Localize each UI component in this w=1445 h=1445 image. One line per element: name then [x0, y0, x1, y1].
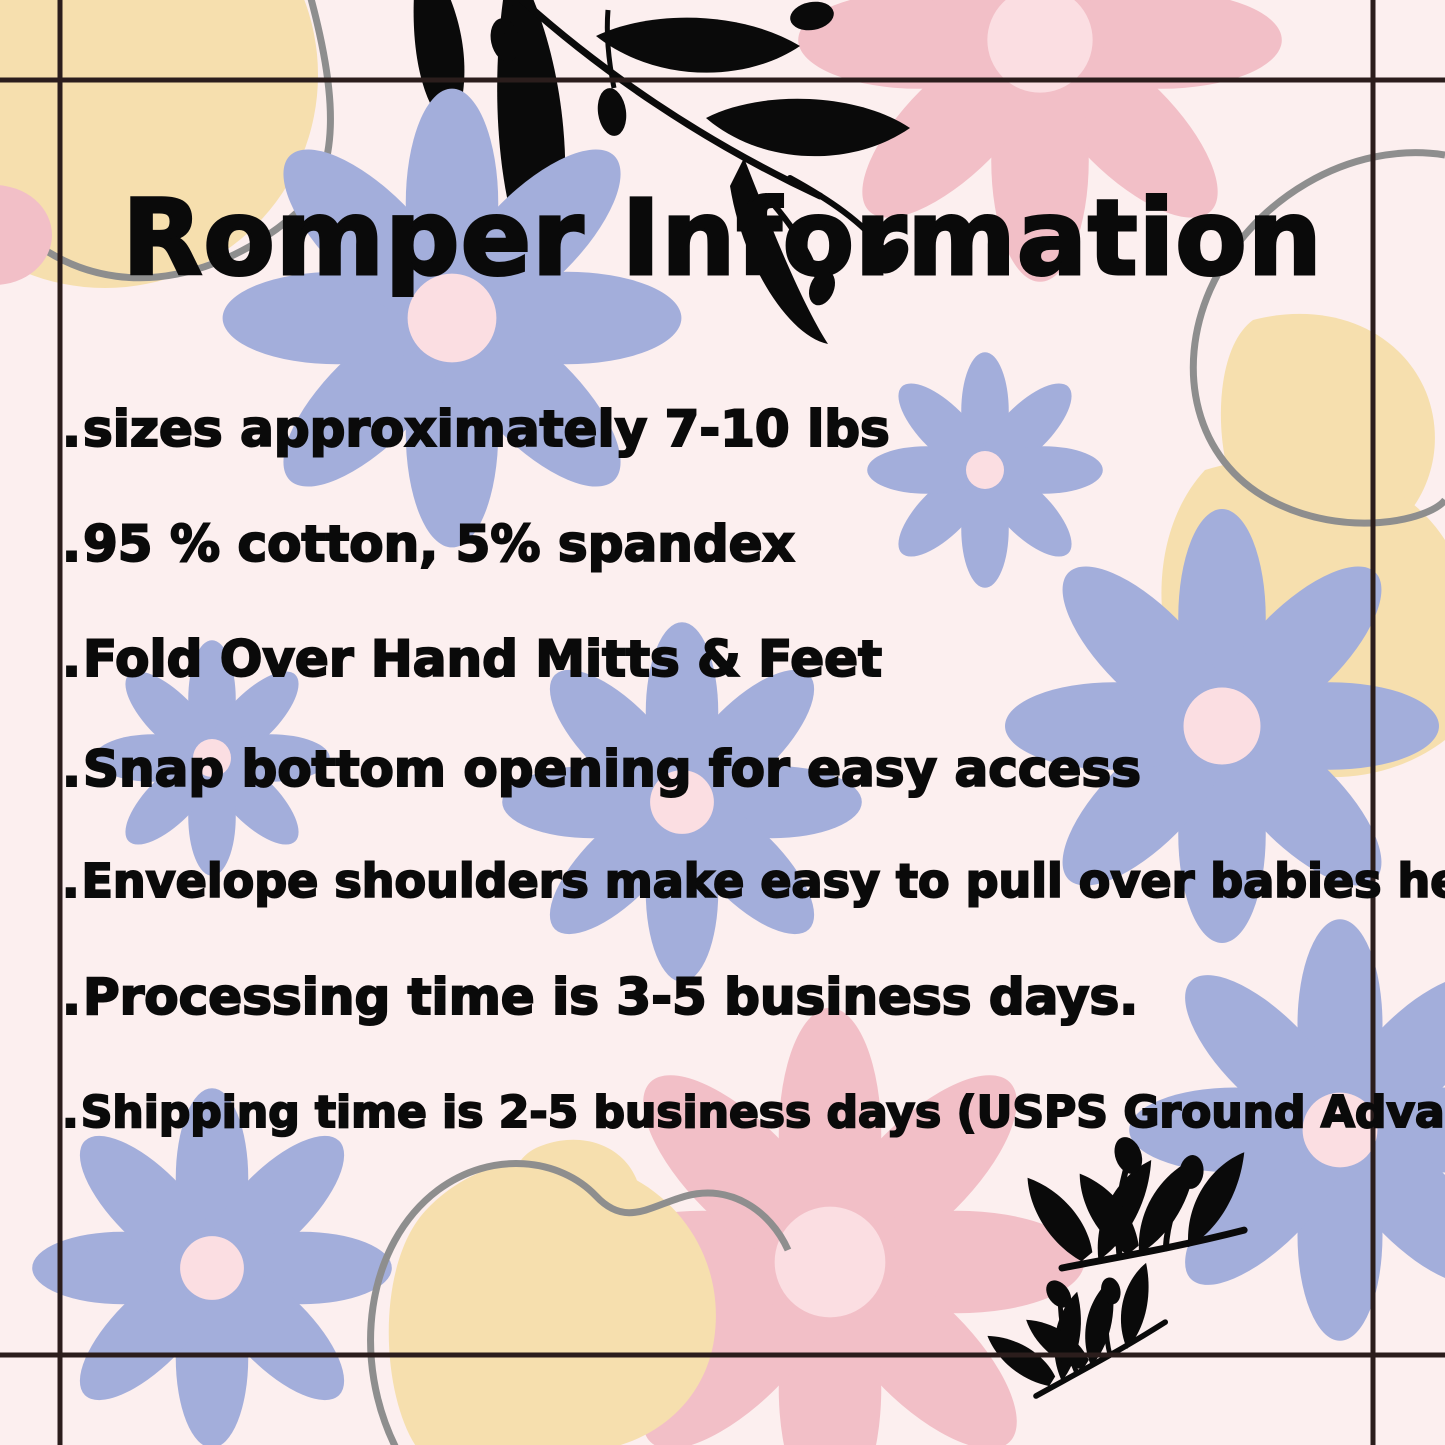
list-item-label: Envelope shoulders make easy to pull ove… [81, 854, 1445, 908]
list-item-label: Processing time is 3-5 business days. [83, 968, 1138, 1026]
list-item: .95 % cotton, 5% spandex [62, 513, 1392, 628]
romper-info-list: .sizes approximately 7-10 lbs .95 % cott… [62, 398, 1392, 1184]
bullet-marker: . [62, 513, 81, 575]
list-item: .Shipping time is 2-5 business days (USP… [62, 1084, 1392, 1184]
bullet-marker: . [62, 966, 81, 1028]
list-item-label: sizes approximately 7-10 lbs [83, 400, 890, 458]
bullet-marker: . [62, 738, 81, 800]
list-item-label: 95 % cotton, 5% spandex [83, 515, 795, 573]
bullet-marker: . [62, 398, 81, 460]
list-item: .Envelope shoulders make easy to pull ov… [62, 851, 1392, 966]
poster-canvas: Romper Information .sizes approximately … [0, 0, 1445, 1445]
list-item: .sizes approximately 7-10 lbs [62, 398, 1392, 513]
bullet-marker: . [62, 628, 81, 690]
bullet-marker: . [62, 851, 79, 911]
page-title: Romper Information [0, 186, 1445, 290]
list-item: .Snap bottom opening for easy access [62, 738, 1392, 851]
list-item-label: Shipping time is 2-5 business days (USPS… [81, 1087, 1445, 1138]
poster-content: Romper Information .sizes approximately … [0, 0, 1445, 1445]
list-item: .Processing time is 3-5 business days. [62, 966, 1392, 1084]
list-item-label: Fold Over Hand Mitts & Feet [83, 630, 882, 688]
list-item-label: Snap bottom opening for easy access [83, 740, 1141, 798]
list-item: .Fold Over Hand Mitts & Feet [62, 628, 1392, 738]
bullet-marker: . [62, 1084, 79, 1142]
